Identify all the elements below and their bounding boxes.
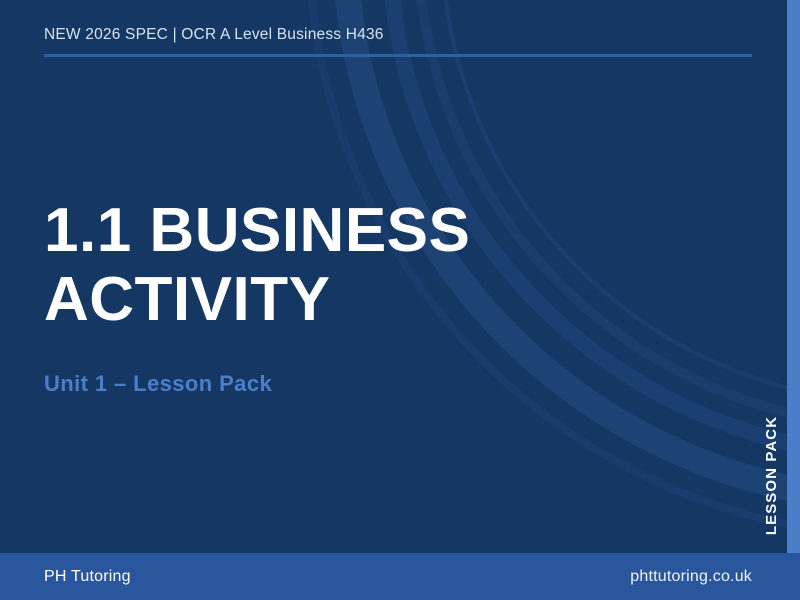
footer-website-url: phttutoring.co.uk [630, 568, 752, 586]
slide-footer: PH Tutoring phttutoring.co.uk [0, 553, 800, 600]
header-divider-rule [44, 54, 752, 57]
footer-brand-name: PH Tutoring [44, 568, 131, 586]
vertical-side-label-text: LESSON PACK [764, 415, 781, 534]
title-block: 1.1 BUSINESS ACTIVITY Unit 1 – Lesson Pa… [44, 196, 604, 397]
vertical-side-label: LESSON PACK [761, 408, 783, 542]
spec-eyebrow-text: NEW 2026 SPEC | OCR A Level Business H43… [44, 26, 752, 45]
slide-header: NEW 2026 SPEC | OCR A Level Business H43… [44, 26, 752, 57]
title-slide: NEW 2026 SPEC | OCR A Level Business H43… [0, 0, 800, 600]
right-accent-bar [787, 0, 800, 553]
page-title: 1.1 BUSINESS ACTIVITY [44, 196, 604, 335]
page-subtitle: Unit 1 – Lesson Pack [44, 371, 604, 397]
